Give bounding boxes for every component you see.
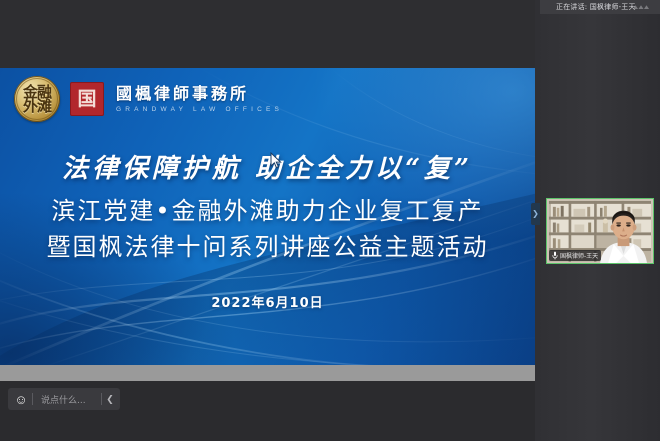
seal-glyph: 国: [77, 90, 96, 109]
participant-name-label: 国枫律师-王天: [560, 251, 598, 260]
slide-subtitle-line-1: 滨江党建•金融外滩助力企业复工复产: [0, 194, 535, 230]
mouse-pointer-icon: [270, 152, 282, 170]
active-speaker-label: 正在讲话: 国枫律师-王天: [540, 2, 636, 12]
participant-video-tile[interactable]: 国枫律师-王天: [546, 198, 654, 264]
stage-letterbox-top: [0, 0, 535, 68]
slide-subtitle-line-2: 暨国枫法律十问系列讲座公益主题活动: [0, 230, 535, 266]
screen-share-stage: 金融 外滩 国 國楓律師事務所 GRANDWAY LAW OFFICES 法律保…: [0, 0, 535, 441]
slide-bottom-strip: [0, 365, 535, 381]
slide-headline: 法律保障护航 助企全力以“复”: [0, 148, 535, 185]
slide-subtitle-block: 滨江党建•金融外滩助力企业复工复产 暨国枫法律十问系列讲座公益主题活动: [0, 194, 535, 265]
slide-date: 2022年6月10日: [0, 292, 535, 311]
sidebar-collapse-button[interactable]: ❯: [531, 203, 540, 225]
emoji-smiley-icon[interactable]: ☺: [10, 388, 32, 410]
grandway-seal-icon: 国: [70, 82, 104, 116]
chevron-right-icon: ❯: [532, 210, 539, 218]
jinrong-waitan-emblem: 金融 外滩: [14, 76, 60, 122]
presentation-slide: 金融 外滩 国 國楓律師事務所 GRANDWAY LAW OFFICES 法律保…: [0, 68, 535, 365]
firm-name-block: 國楓律師事務所 GRANDWAY LAW OFFICES: [116, 85, 283, 113]
video-conference-window: 金融 外滩 国 國楓律師事務所 GRANDWAY LAW OFFICES 法律保…: [0, 0, 660, 441]
microphone-icon: [552, 251, 558, 260]
chat-composer[interactable]: ☺ 说点什么... ❮: [8, 388, 120, 410]
participant-name-chip: 国枫律师-王天: [549, 250, 601, 261]
network-signal-icon[interactable]: [631, 2, 651, 12]
emblem-line-2: 外滩: [23, 99, 51, 113]
chevron-left-icon[interactable]: ❮: [102, 388, 118, 410]
firm-name-chinese: 國楓律師事務所: [116, 85, 283, 103]
firm-name-english: GRANDWAY LAW OFFICES: [116, 106, 283, 113]
chat-input[interactable]: 说点什么...: [33, 393, 101, 406]
slide-logo-lockup: 金融 外滩 国 國楓律師事務所 GRANDWAY LAW OFFICES: [14, 76, 283, 122]
